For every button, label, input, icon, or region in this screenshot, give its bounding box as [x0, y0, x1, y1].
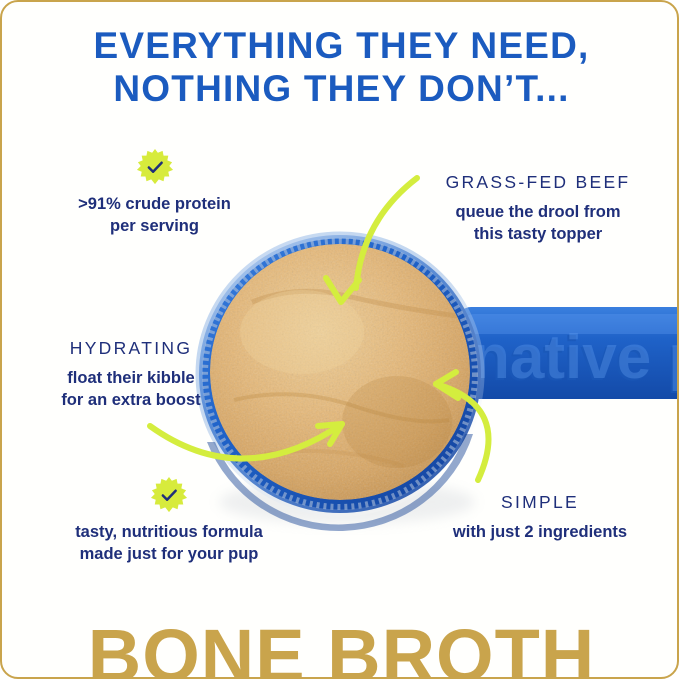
callout-tasty-formula: tasty, nutritious formula made just for … [41, 476, 297, 566]
headline-line-2: NOTHING THEY DON’T... [2, 67, 679, 110]
arrow-simple [436, 384, 489, 480]
callout-body-line-2: this tasty topper [430, 224, 646, 246]
callout-body-line-1: float their kibble [28, 368, 234, 390]
svg-text:native pe: native pe [472, 323, 679, 392]
callout-hydrating: HYDRATING float their kibble for an extr… [28, 338, 234, 412]
product-wordmark: BONE BROTH [2, 619, 679, 679]
callout-body-line-1: queue the drool from [430, 202, 646, 224]
check-badge-icon [150, 476, 188, 514]
callout-body-line-1: tasty, nutritious formula [41, 522, 297, 544]
callout-body-line-2: per serving [47, 216, 262, 238]
page-title: EVERYTHING THEY NEED, NOTHING THEY DON’T… [2, 24, 679, 111]
callout-title: GRASS-FED BEEF [430, 172, 646, 193]
scoop-handle: native pe native pe [457, 307, 679, 399]
product-infographic-card: EVERYTHING THEY NEED, NOTHING THEY DON’T… [0, 0, 679, 679]
callout-body-line-2: for an extra boost [28, 390, 234, 412]
callout-body-line-1: with just 2 ingredients [426, 522, 654, 544]
callout-title: HYDRATING [28, 338, 234, 359]
arrow-hydrating [150, 424, 342, 459]
callout-grass-fed-beef: GRASS-FED BEEF queue the drool from this… [430, 172, 646, 246]
callout-simple: SIMPLE with just 2 ingredients [426, 492, 654, 544]
headline-line-1: EVERYTHING THEY NEED, [2, 24, 679, 67]
callout-body-line-2: made just for your pup [41, 544, 297, 566]
callout-body-line-1: >91% crude protein [47, 194, 262, 216]
arrow-grass-fed-beef [356, 178, 417, 288]
scoop-brand-text: native pe [470, 325, 679, 394]
callout-title: SIMPLE [426, 492, 654, 513]
bone-broth-powder [210, 244, 470, 500]
callout-crude-protein: >91% crude protein per serving [47, 148, 262, 238]
check-badge-icon [136, 148, 174, 186]
